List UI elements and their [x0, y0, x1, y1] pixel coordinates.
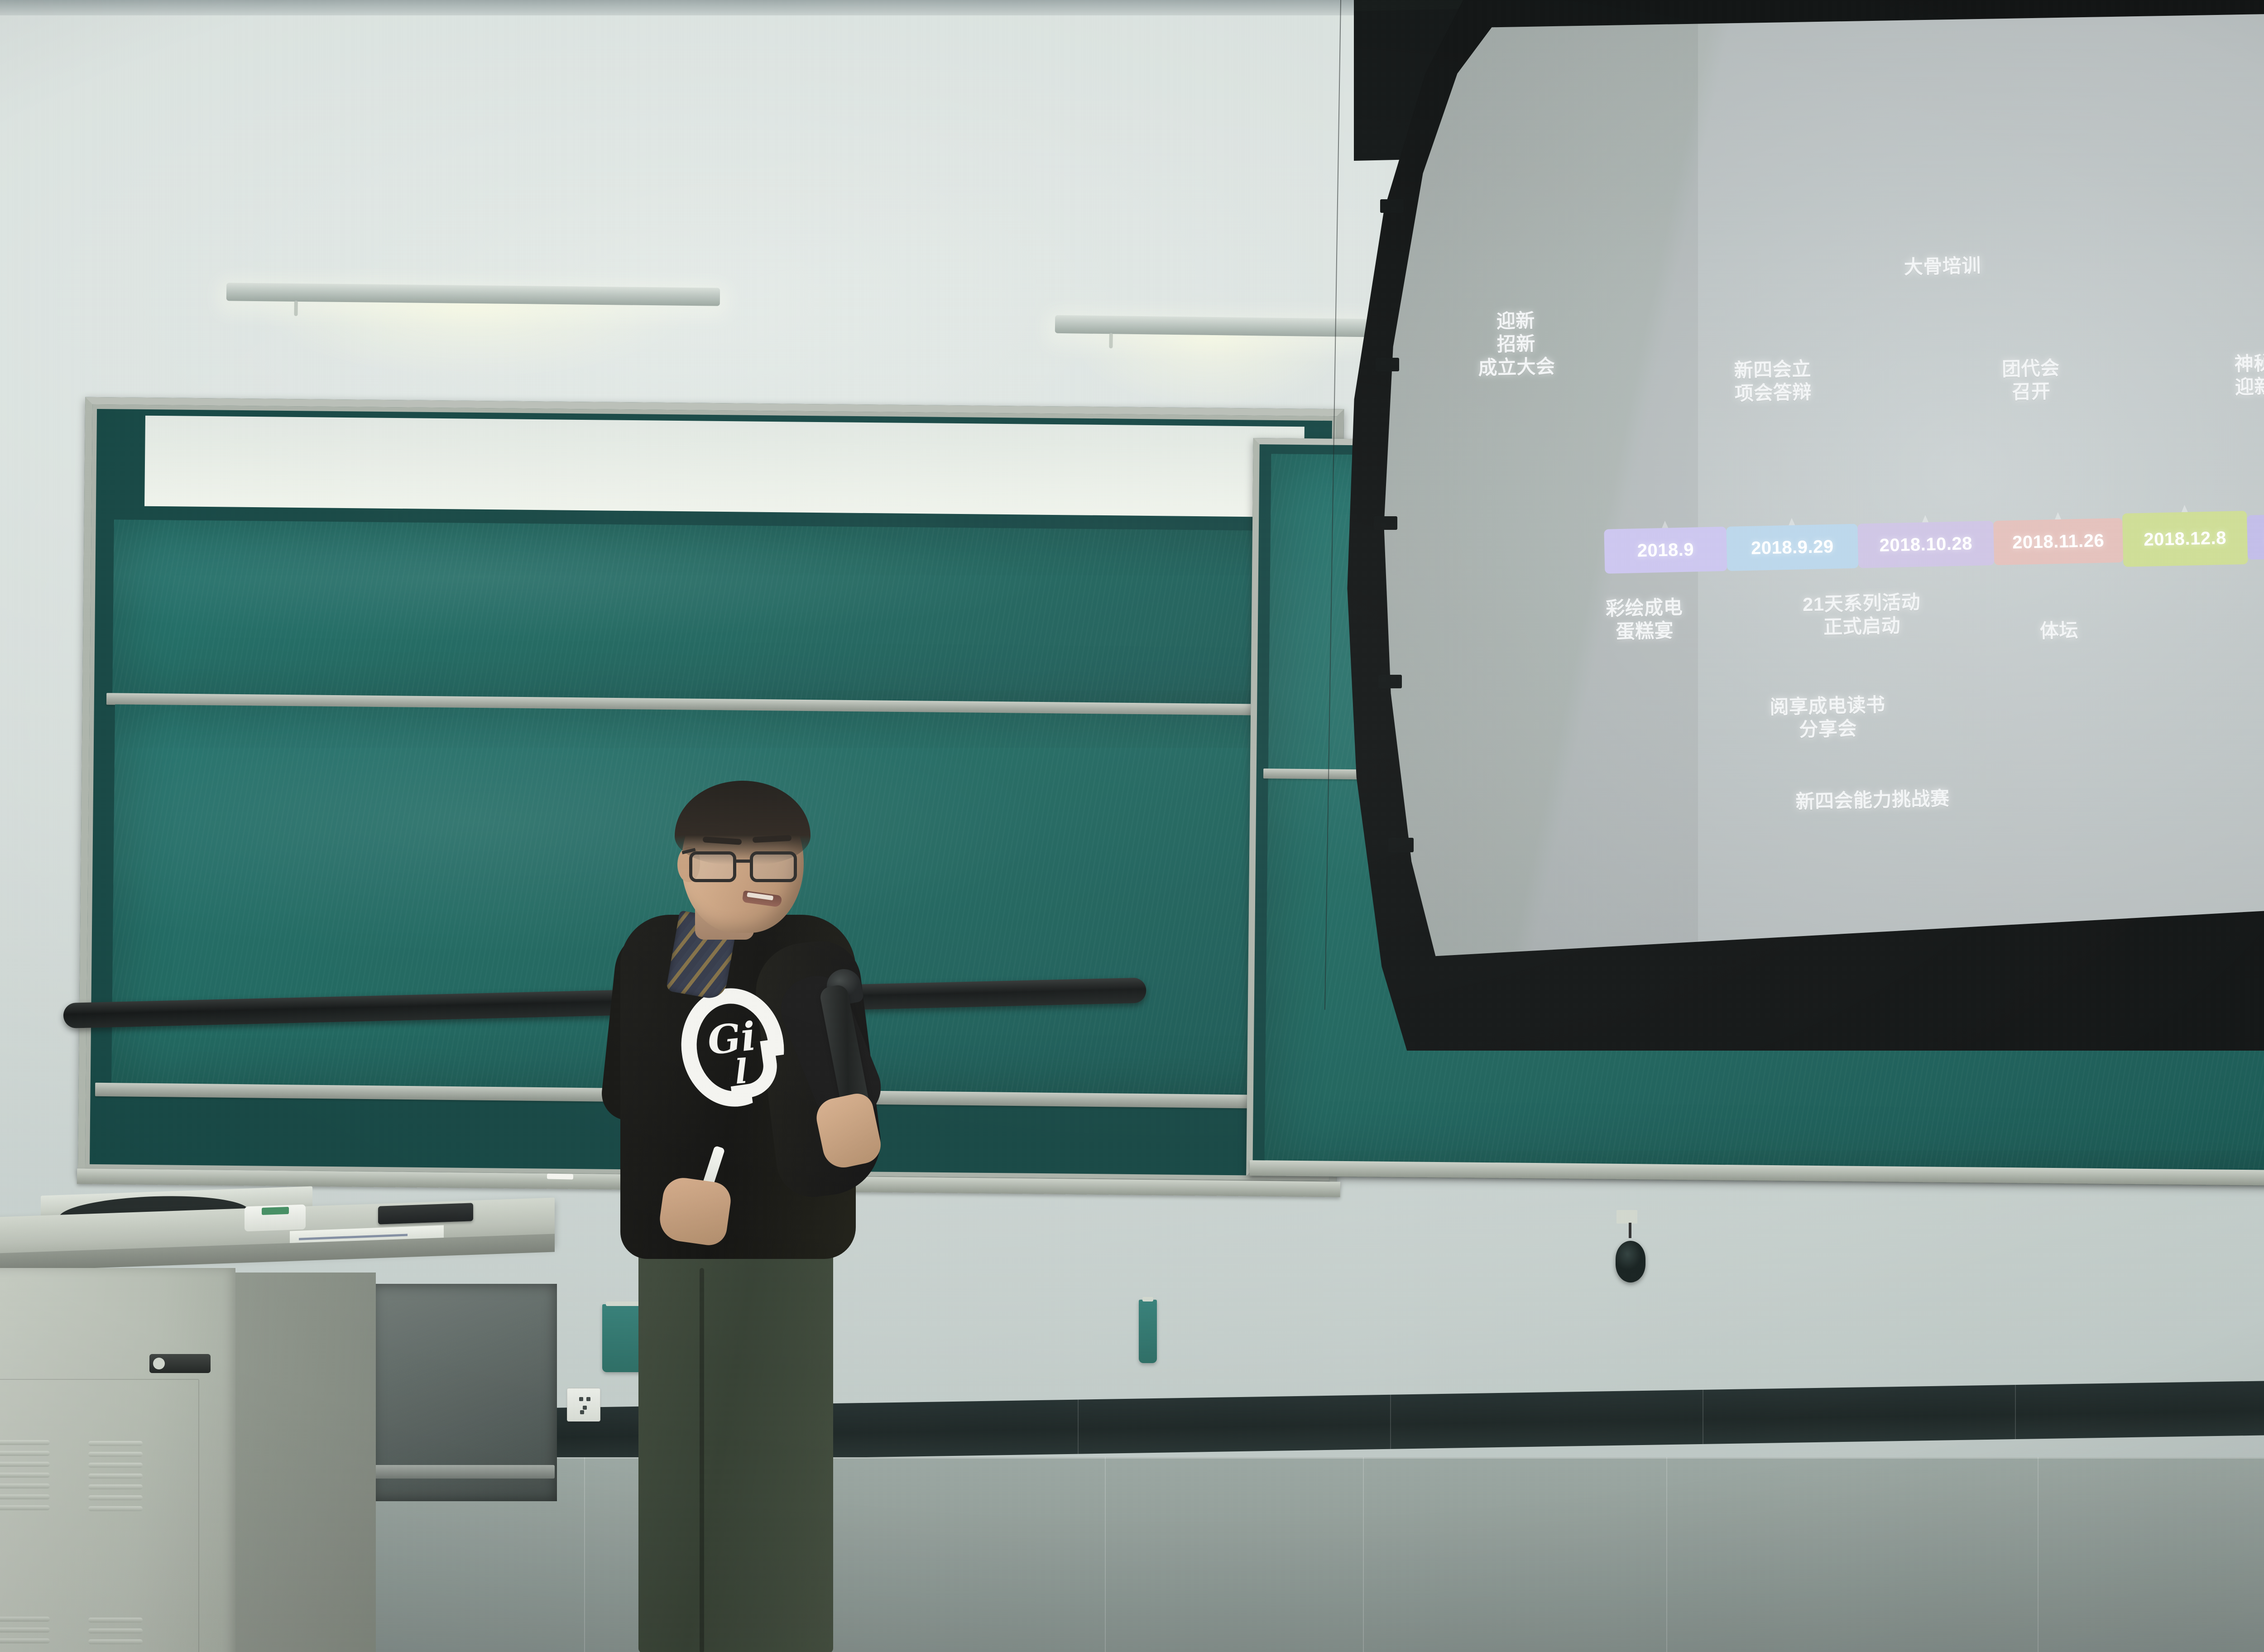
classroom-presentation-photo: 大骨培训 迎新 招新 成立大会 新四会立 项会答辩 团代会 召开 神秘信号 迎新… [0, 0, 2264, 1652]
lectern-front-panel [0, 1268, 235, 1652]
timeline-date-2: 2018.10.28 [1879, 533, 1972, 556]
timeline-date-1: 2018.9.29 [1751, 536, 1834, 558]
sweater-logo: Gi l [681, 988, 784, 1107]
timeline-label-below-3: 阅享成电读书 分享会 [1730, 692, 1925, 743]
timeline-segment-3[interactable]: 2018.11.26 [1993, 518, 2123, 565]
timeline-date-3: 2018.11.26 [2012, 530, 2105, 552]
slide-title-top: 大骨培训 [1847, 253, 2038, 280]
glasses-bridge [736, 860, 750, 863]
timeline-segment-1[interactable]: 2018.9.29 [1726, 524, 1858, 571]
eraser-hook [1629, 1223, 1631, 1238]
timeline-date-0: 2018.9 [1637, 539, 1694, 561]
lectern-side-panel [226, 1273, 376, 1652]
presenter-trousers [638, 1232, 833, 1652]
ceiling-edge [0, 0, 1404, 15]
wall-pocket-right [1139, 1300, 1157, 1363]
timeline-label-above-0: 迎新 招新 成立大会 [1441, 307, 1592, 380]
timeline-segment-2[interactable]: 2018.10.28 [1857, 521, 1994, 568]
blackboard-eraser[interactable] [1616, 1241, 1645, 1282]
timeline-label-below-0: 彩绘成电 蛋糕宴 [1567, 595, 1722, 644]
presenter-left-hand [657, 1175, 733, 1248]
chalk-piece [547, 1173, 573, 1179]
lectern-lock[interactable] [149, 1354, 211, 1373]
lectern-door[interactable] [0, 1379, 199, 1652]
timeline-label-above-1: 新四会立 项会答辩 [1691, 356, 1855, 406]
timeline-label-below-4: 新四会能力挑战赛 [1746, 786, 2000, 814]
glasses-lens-right [750, 851, 797, 882]
eyeglasses [689, 846, 803, 885]
timeline-date-4: 2018.12.8 [2144, 528, 2226, 550]
eraser-hook-plate [1616, 1210, 1637, 1224]
sweater-logo-script-1: Gi [706, 1021, 758, 1057]
blackboard-upper-recess [144, 416, 1305, 518]
timeline-segment-0[interactable]: 2018.9 [1604, 527, 1727, 574]
presenter: Gi l [584, 779, 946, 1652]
blackboard-upper-panel [112, 519, 1309, 707]
lectern-drawer-slide [374, 1465, 555, 1479]
timeline-label-above-3: 神秘信号 迎新晚会 [2189, 350, 2264, 400]
sweater-logo-script-2: l [734, 1052, 749, 1092]
timeline-label-below-1: 21天系列活动 正式启动 [1755, 589, 1969, 640]
timeline-label-above-2: 团代会 召开 [1962, 355, 2099, 405]
trouser-crease [700, 1268, 704, 1652]
lectern-cabinet[interactable] [0, 1200, 571, 1652]
mobile-phone[interactable] [378, 1203, 473, 1224]
timeline-segment-5[interactable]: 2018.12.10 [2247, 513, 2264, 560]
slide-timeline: 大骨培训 迎新 招新 成立大会 新四会立 项会答辩 团代会 召开 神秘信号 迎新… [1367, 44, 2264, 978]
timeline-bar: 2018.9 2018.9.29 2018.10.28 2018.11.26 2… [1604, 509, 2264, 574]
glasses-lens-left [689, 851, 736, 882]
tape-roll[interactable] [245, 1205, 306, 1232]
timeline-segment-4[interactable]: 2018.12.8 [2122, 511, 2248, 567]
fluorescent-tube-right [1055, 315, 1367, 337]
timeline-label-below-2: 体坛 [2014, 618, 2105, 644]
